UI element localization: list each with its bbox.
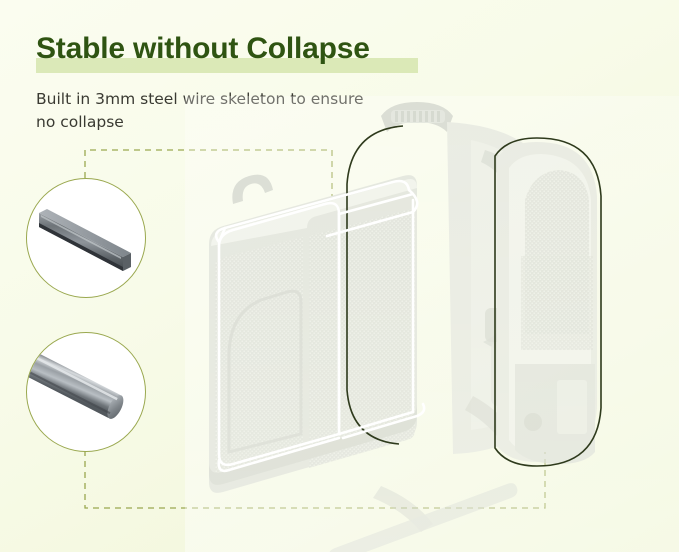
heading-block: Stable without Collapse [36, 32, 496, 66]
flat-steel-bar-icon [27, 179, 145, 297]
callout-round-steel-rod [26, 332, 146, 452]
page-title: Stable without Collapse [36, 32, 496, 66]
carrier-illustration [185, 96, 679, 552]
product-feature-graphic: Stable without Collapse Built in 3mm ste… [0, 0, 679, 552]
product-image-pet-carrier-backpack [185, 96, 679, 552]
callout-flat-steel-bar [26, 178, 146, 298]
round-steel-rod-icon [27, 333, 145, 451]
